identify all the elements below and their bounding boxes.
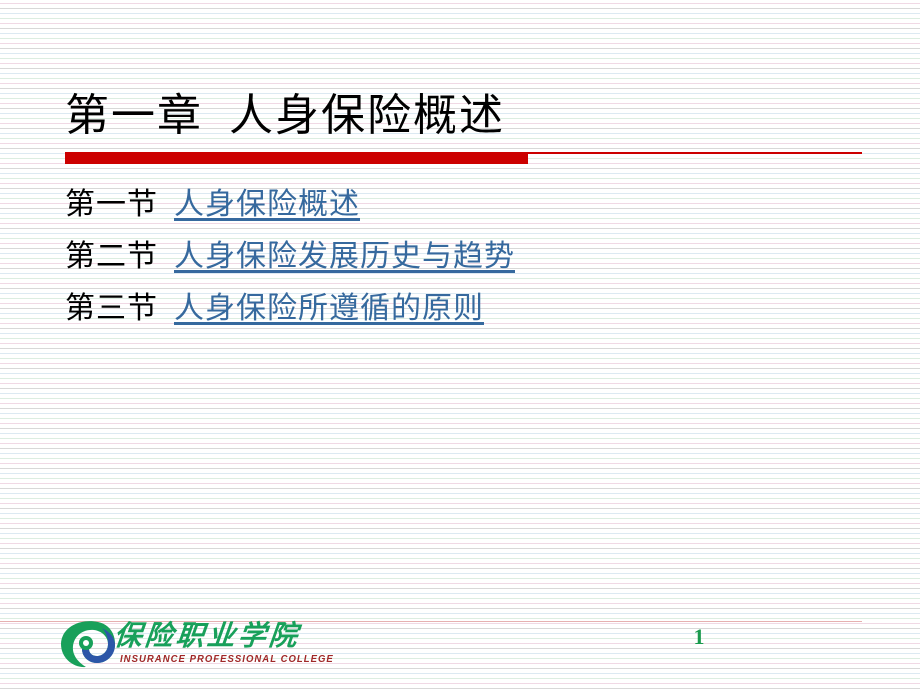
slide-page-number: 1 — [684, 624, 714, 650]
presentation-slide: 第一章 人身保险概述 第一节 人身保险概述 第二节 人身保险发展历史与趋势 第三… — [0, 0, 920, 690]
toc-row-section-1: 第一节 人身保险概述 — [65, 186, 825, 238]
toc-section-label-1: 第一节 — [65, 186, 158, 224]
swirl-logo-icon — [58, 618, 116, 670]
title-underline-rule — [65, 152, 862, 164]
college-logo: 保险职业学院 INSURANCE PROFESSIONAL COLLEGE — [58, 616, 308, 678]
title-rule-thick-bar — [65, 154, 528, 164]
logo-name-english: INSURANCE PROFESSIONAL COLLEGE — [120, 654, 334, 666]
slide-title: 第一章 人身保险概述 — [65, 88, 505, 144]
toc-section-label-2: 第二节 — [65, 238, 158, 276]
toc-row-section-3: 第三节 人身保险所遵循的原则 — [65, 290, 825, 342]
toc-link-section-3[interactable]: 人身保险所遵循的原则 — [174, 290, 484, 328]
toc-section-label-3: 第三节 — [65, 290, 158, 328]
table-of-contents: 第一节 人身保险概述 第二节 人身保险发展历史与趋势 第三节 人身保险所遵循的原… — [65, 186, 825, 342]
logo-name-chinese: 保险职业学院 — [112, 620, 301, 652]
toc-row-section-2: 第二节 人身保险发展历史与趋势 — [65, 238, 825, 290]
toc-link-section-1[interactable]: 人身保险概述 — [174, 186, 360, 224]
toc-link-section-2[interactable]: 人身保险发展历史与趋势 — [174, 238, 515, 276]
